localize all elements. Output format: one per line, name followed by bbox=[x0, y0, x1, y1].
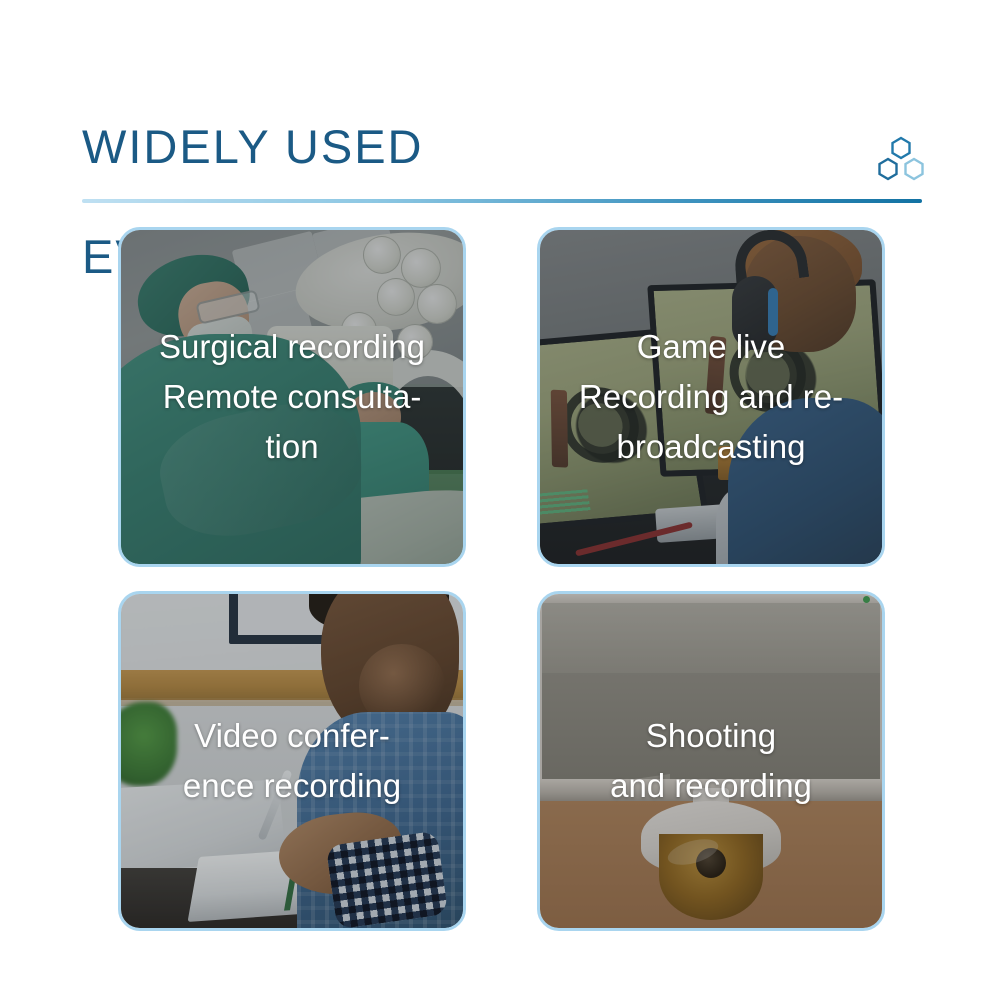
card-label-game-live: Game live Recording and re- broadcasting bbox=[548, 322, 874, 472]
hexagon-cluster-icon bbox=[874, 135, 928, 185]
card-label-video-conference-recording: Video confer- ence recording bbox=[129, 711, 455, 811]
header-divider bbox=[82, 199, 922, 203]
use-case-card-grid: Surgical recording Remote consulta- tion bbox=[118, 227, 886, 932]
card-game-live[interactable]: Game live Recording and re- broadcasting bbox=[537, 227, 885, 567]
page-header: WIDELY USED EVERYWHERE bbox=[0, 0, 1000, 215]
card-video-conference-recording[interactable]: Video confer- ence recording bbox=[118, 591, 466, 931]
card-surgical-recording[interactable]: Surgical recording Remote consulta- tion bbox=[118, 227, 466, 567]
card-label-surgical-recording: Surgical recording Remote consulta- tion bbox=[129, 322, 455, 472]
card-shooting-and-recording[interactable]: Shooting and recording bbox=[537, 591, 885, 931]
page-title-line-1: WIDELY USED bbox=[82, 120, 702, 174]
card-label-shooting-and-recording: Shooting and recording bbox=[548, 711, 874, 811]
